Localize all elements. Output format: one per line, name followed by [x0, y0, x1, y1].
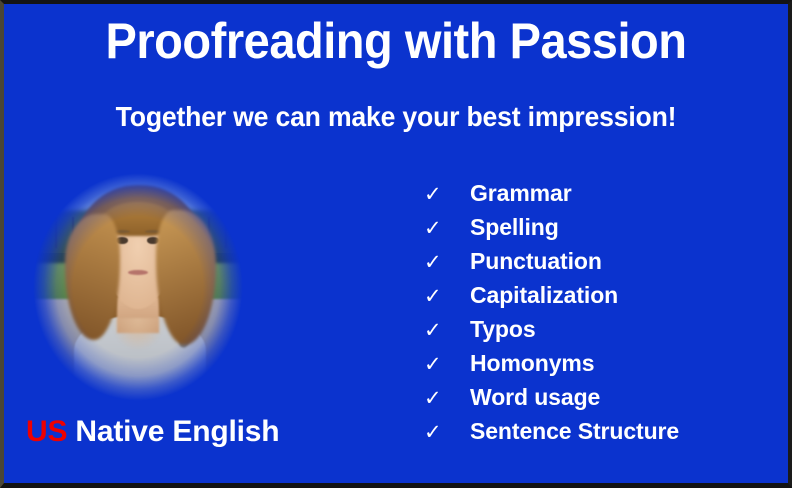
checklist-item: ✓Homonyms	[424, 346, 764, 380]
checklist-item-label: Word usage	[470, 380, 600, 414]
checklist-item: ✓Typos	[424, 312, 764, 346]
native-english-line: US Native English	[26, 413, 279, 451]
promo-banner: Proofreading with Passion Together we ca…	[0, 0, 792, 488]
check-icon: ✓	[424, 382, 470, 416]
checklist-item-label: Capitalization	[470, 278, 618, 312]
checklist-item: ✓Word usage	[424, 380, 764, 414]
check-icon: ✓	[424, 416, 470, 450]
services-checklist: ✓Grammar✓Spelling✓Punctuation✓Capitaliza…	[424, 176, 764, 448]
check-icon: ✓	[424, 178, 470, 212]
checklist-item: ✓Sentence Structure	[424, 414, 764, 448]
checklist-item: ✓Spelling	[424, 210, 764, 244]
native-english-text: Native English	[67, 415, 279, 448]
check-icon: ✓	[424, 246, 470, 280]
checklist-item-label: Spelling	[470, 210, 559, 244]
check-icon: ✓	[424, 280, 470, 314]
page-subtitle: Together we can make your best impressio…	[24, 99, 769, 135]
portrait-photo	[24, 166, 252, 408]
check-icon: ✓	[424, 314, 470, 348]
portrait-photo-image	[24, 166, 252, 408]
checklist-item: ✓Punctuation	[424, 244, 764, 278]
native-english-country-label: US	[26, 415, 67, 448]
check-icon: ✓	[424, 348, 470, 382]
checklist-item-label: Grammar	[470, 176, 572, 210]
check-icon: ✓	[424, 212, 470, 246]
checklist-item: ✓Grammar	[424, 176, 764, 210]
checklist-item-label: Punctuation	[470, 244, 602, 278]
checklist-item-label: Homonyms	[470, 346, 594, 380]
checklist-item-label: Sentence Structure	[470, 414, 679, 448]
checklist-item: ✓Capitalization	[424, 278, 764, 312]
page-title: Proofreading with Passion	[28, 12, 765, 70]
checklist-item-label: Typos	[470, 312, 536, 346]
